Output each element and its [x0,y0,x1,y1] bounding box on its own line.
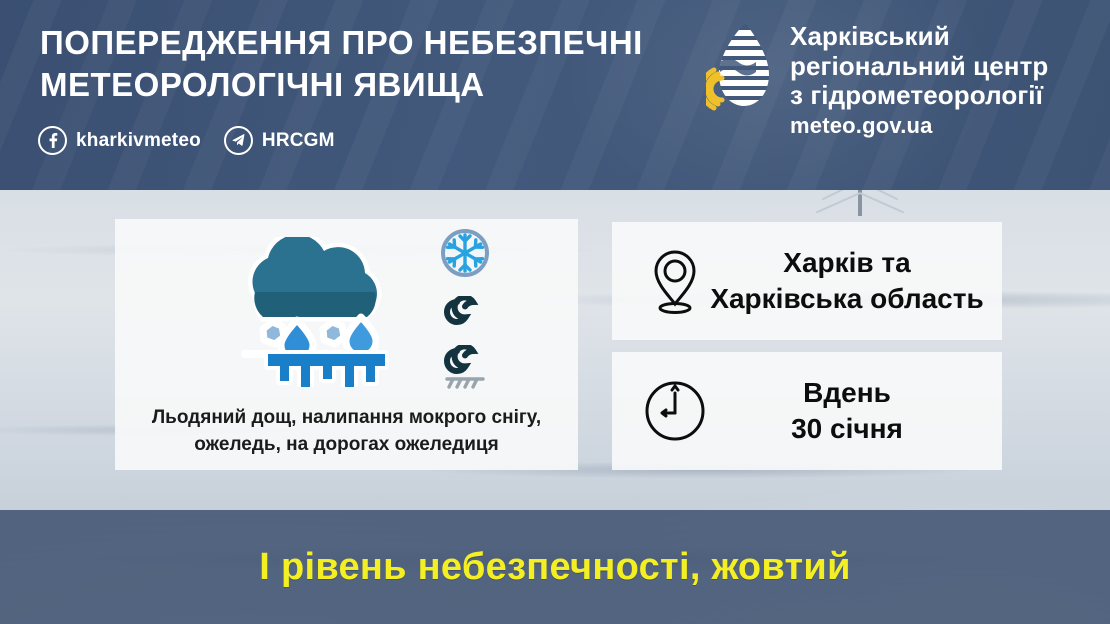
time-text: Вдень 30 січня [710,375,1002,448]
header-bar: ПОПЕРЕДЖЕННЯ ПРО НЕБЕЗПЕЧНІ МЕТЕОРОЛОГІЧ… [0,0,1110,190]
danger-level-text: I рівень небезпечності, жовтий [259,546,851,589]
telegram-handle[interactable]: HRCGM [262,130,335,152]
snowflake-icon [439,227,491,284]
logo-line2: регіональний центр [790,52,1048,82]
telegram-icon[interactable] [224,126,253,155]
facebook-handle[interactable]: kharkivmeteo [76,130,201,152]
location-line2: Харківська область [710,281,984,317]
weather-description-line2: ожеледь, на дорогах ожеледиця [129,432,564,459]
logo-line3: з гідрометеорології [790,81,1048,111]
time-line2: 30 січня [710,411,984,447]
time-panel: Вдень 30 січня [612,352,1002,470]
freezing-rain-icon [201,237,411,392]
page-title: ПОПЕРЕДЖЕННЯ ПРО НЕБЕЗПЕЧНІ МЕТЕОРОЛОГІЧ… [40,22,700,106]
time-line1: Вдень [710,375,984,411]
map-pin-icon [640,248,710,314]
logo-line1: Харківський [790,22,1048,52]
weather-icon-row [115,237,578,392]
weather-warning-poster: ПОПЕРЕДЖЕННЯ ПРО НЕБЕЗПЕЧНІ МЕТЕОРОЛОГІЧ… [0,0,1110,624]
logo-text-block: Харківський регіональний центр з гідроме… [790,22,1048,139]
weather-symbols [437,227,493,396]
clock-icon [640,379,710,443]
ground-ice-icon [437,345,493,396]
logo-website-url[interactable]: meteo.gov.ua [790,113,1048,139]
location-panel: Харків та Харківська область [612,222,1002,340]
page-title-line2: МЕТЕОРОЛОГІЧНІ ЯВИЩА [40,64,700,106]
page-title-line1: ПОПЕРЕДЖЕННЯ ПРО НЕБЕЗПЕЧНІ [40,22,700,64]
organization-logo: Харківський регіональний центр з гідроме… [706,22,1048,139]
danger-level-banner: I рівень небезпечності, жовтий [0,510,1110,624]
location-line1: Харків та [710,245,984,281]
glaze-ice-icon [437,296,493,333]
weather-description-line1: Льодяний дощ, налипання мокрого снігу, [129,405,564,432]
facebook-icon[interactable] [38,126,67,155]
weather-panel: Льодяний дощ, налипання мокрого снігу, о… [115,219,578,470]
weather-description: Льодяний дощ, налипання мокрого снігу, о… [129,405,564,459]
location-text: Харків та Харківська область [710,245,1002,318]
water-drop-logo-icon [706,22,772,114]
social-links: kharkivmeteo HRCGM [38,126,349,155]
